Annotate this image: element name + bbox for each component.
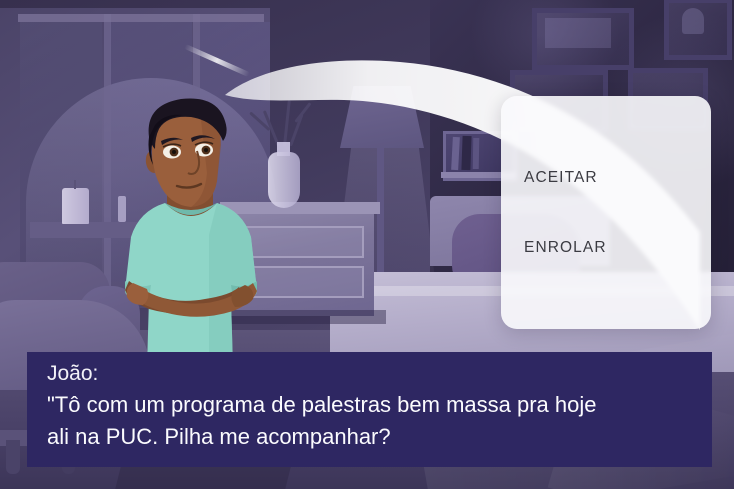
dialogue-line: "Tô com um programa de palestras bem mas… — [47, 389, 712, 421]
picture-frame-figure — [682, 8, 704, 34]
book-icon — [461, 136, 471, 170]
book-icon — [473, 138, 480, 169]
candle-wick-icon — [74, 180, 76, 189]
dialogue-line: ali na PUC. Pilha me acompanhar? — [47, 421, 712, 453]
dialogue-text: "Tô com um programa de palestras bem mas… — [47, 389, 712, 453]
choice-option-accept[interactable]: ACEITAR — [501, 156, 711, 200]
floor-lamp-shade-icon — [340, 86, 424, 148]
dialogue-box[interactable]: João: "Tô com um programa de palestras b… — [27, 352, 712, 467]
picture-frame-inner — [545, 18, 611, 48]
window-frame-top — [18, 14, 264, 22]
character-joao — [105, 85, 275, 370]
choice-panel: ACEITAR ENROLAR — [501, 96, 711, 329]
visual-novel-scene: ACEITAR ENROLAR João: "Tô com um program… — [0, 0, 734, 489]
armchair-leg — [6, 440, 20, 474]
choice-option-delay-label: ENROLAR — [524, 239, 607, 257]
choice-option-accept-label: ACEITAR — [524, 169, 598, 187]
speaker-name: João: — [47, 361, 712, 387]
candle-icon — [62, 188, 89, 224]
choice-option-delay[interactable]: ENROLAR — [501, 226, 711, 270]
